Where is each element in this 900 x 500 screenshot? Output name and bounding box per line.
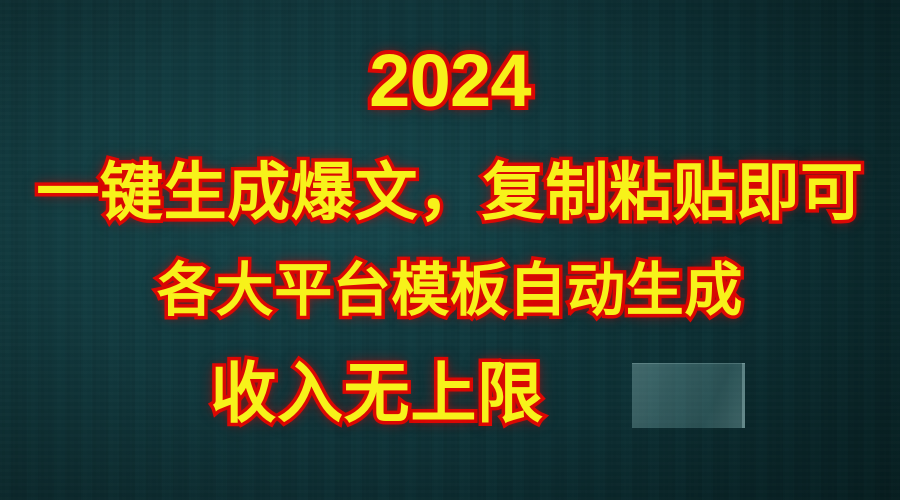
poster-canvas: 2024 一键生成爆文，复制粘贴即可 各大平台模板自动生成 收入无上限 bbox=[0, 0, 900, 500]
headline-year: 2024 bbox=[0, 44, 900, 118]
highlight-rectangle-overlay bbox=[632, 363, 745, 428]
headline-line-2: 各大平台模板自动生成 bbox=[0, 262, 900, 320]
headline-line-1: 一键生成爆文，复制粘贴即可 bbox=[0, 162, 900, 225]
